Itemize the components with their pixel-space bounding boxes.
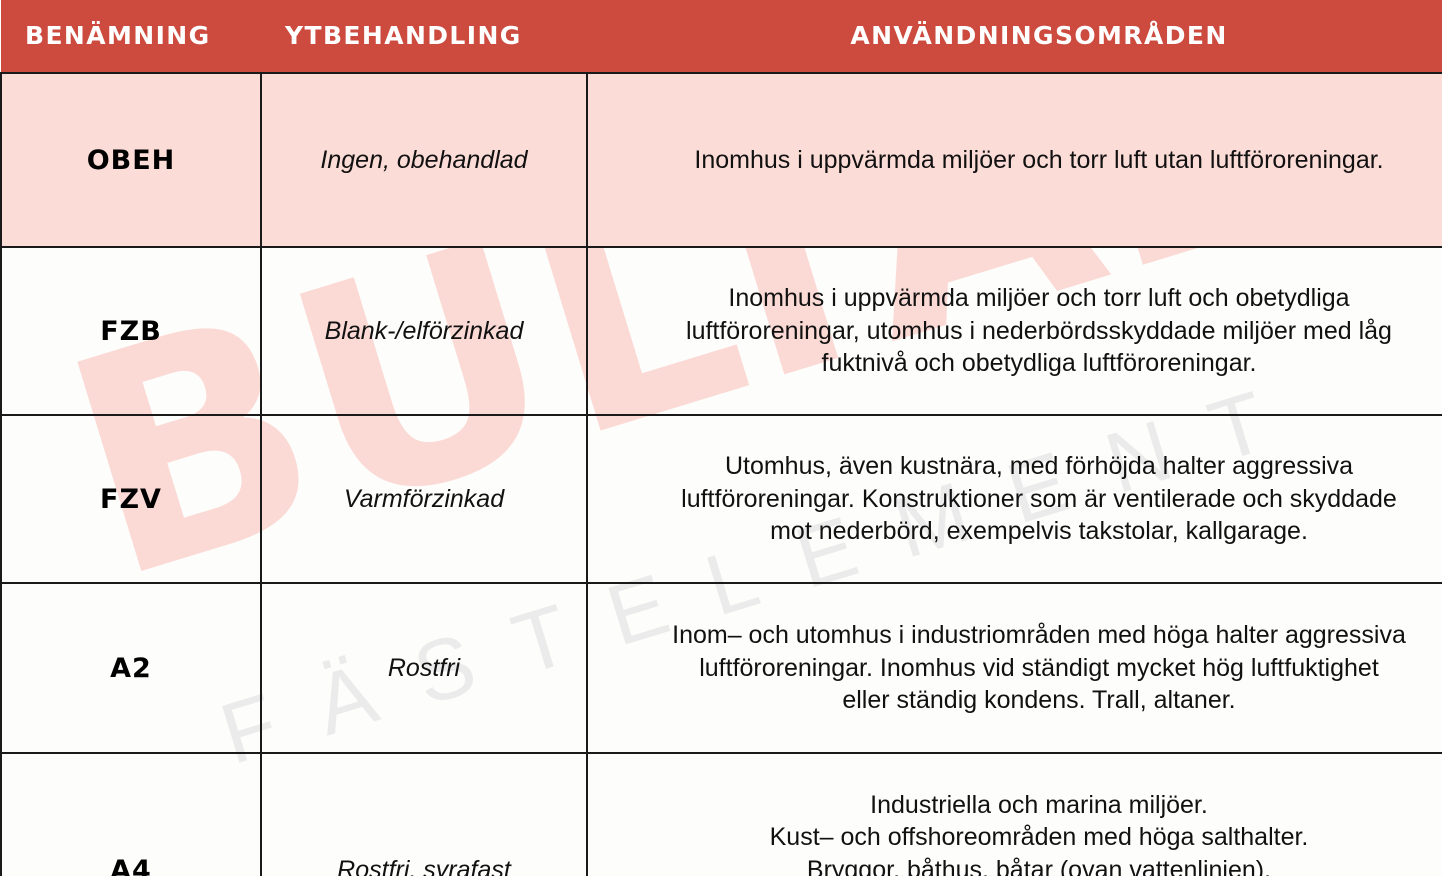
usage-line: Utomhus, även kustnära, med förhöjda hal…: [608, 450, 1442, 483]
usage-line: Industriella och marina miljöer.: [608, 789, 1442, 822]
table-row: A2 Rostfri Inom– och utomhus i industrio…: [1, 583, 1442, 753]
table-row: OBEH Ingen, obehandlad Inomhus i uppvärm…: [1, 73, 1442, 247]
table-row: FZV Varmförzinkad Utomhus, även kustnära…: [1, 415, 1442, 583]
column-header-ytbehandling: YTBEHANDLING: [261, 0, 587, 73]
cell-usage: Industriella och marina miljöer. Kust– o…: [587, 753, 1442, 876]
cell-treatment: Rostfri: [261, 583, 587, 753]
usage-line: Bryggor, båthus, båtar (ovan vattenlinje…: [608, 854, 1442, 876]
usage-line: luftföroreningar, utomhus i nederbördssk…: [608, 315, 1442, 348]
cell-code: FZB: [1, 247, 261, 415]
table-body: OBEH Ingen, obehandlad Inomhus i uppvärm…: [1, 73, 1442, 876]
cell-usage: Utomhus, även kustnära, med förhöjda hal…: [587, 415, 1442, 583]
table-row: A4 Rostfri, syrafast Industriella och ma…: [1, 753, 1442, 876]
cell-code: A4: [1, 753, 261, 876]
column-header-benamning: BENÄMNING: [1, 0, 261, 73]
cell-treatment: Rostfri, syrafast: [261, 753, 587, 876]
cell-usage: Inom– och utomhus i industriområden med …: [587, 583, 1442, 753]
usage-line: Inomhus i uppvärmda miljöer och torr luf…: [608, 144, 1442, 177]
usage-line: luftföroreningar. Konstruktioner som är …: [608, 483, 1442, 516]
usage-line: Inom– och utomhus i industriområden med …: [608, 619, 1442, 652]
cell-treatment: Blank-/elförzinkad: [261, 247, 587, 415]
usage-line: luftföroreningar. Inomhus vid ständigt m…: [608, 652, 1442, 685]
surface-treatment-table: BENÄMNING YTBEHANDLING ANVÄNDNINGSOMRÅDE…: [0, 0, 1442, 876]
cell-usage: Inomhus i uppvärmda miljöer och torr luf…: [587, 247, 1442, 415]
cell-usage: Inomhus i uppvärmda miljöer och torr luf…: [587, 73, 1442, 247]
usage-line: Kust– och offshoreområden med höga salth…: [608, 821, 1442, 854]
table-header: BENÄMNING YTBEHANDLING ANVÄNDNINGSOMRÅDE…: [1, 0, 1442, 73]
usage-line: fuktnivå och obetydliga luftföroreningar…: [608, 347, 1442, 380]
usage-line: eller ständig kondens. Trall, altaner.: [608, 684, 1442, 717]
cell-treatment: Ingen, obehandlad: [261, 73, 587, 247]
usage-line: Inomhus i uppvärmda miljöer och torr luf…: [608, 282, 1442, 315]
column-header-anvandningsomraden: ANVÄNDNINGSOMRÅDEN: [587, 0, 1442, 73]
table-row: FZB Blank-/elförzinkad Inomhus i uppvärm…: [1, 247, 1442, 415]
table-header-row: BENÄMNING YTBEHANDLING ANVÄNDNINGSOMRÅDE…: [1, 0, 1442, 73]
usage-line: mot nederbörd, exempelvis takstolar, kal…: [608, 515, 1442, 548]
cell-code: OBEH: [1, 73, 261, 247]
cell-code: A2: [1, 583, 261, 753]
cell-treatment: Varmförzinkad: [261, 415, 587, 583]
table-sheet: BULTAB FÄSTELEMENT BENÄMNING YTBEHANDLIN…: [0, 0, 1442, 876]
cell-code: FZV: [1, 415, 261, 583]
